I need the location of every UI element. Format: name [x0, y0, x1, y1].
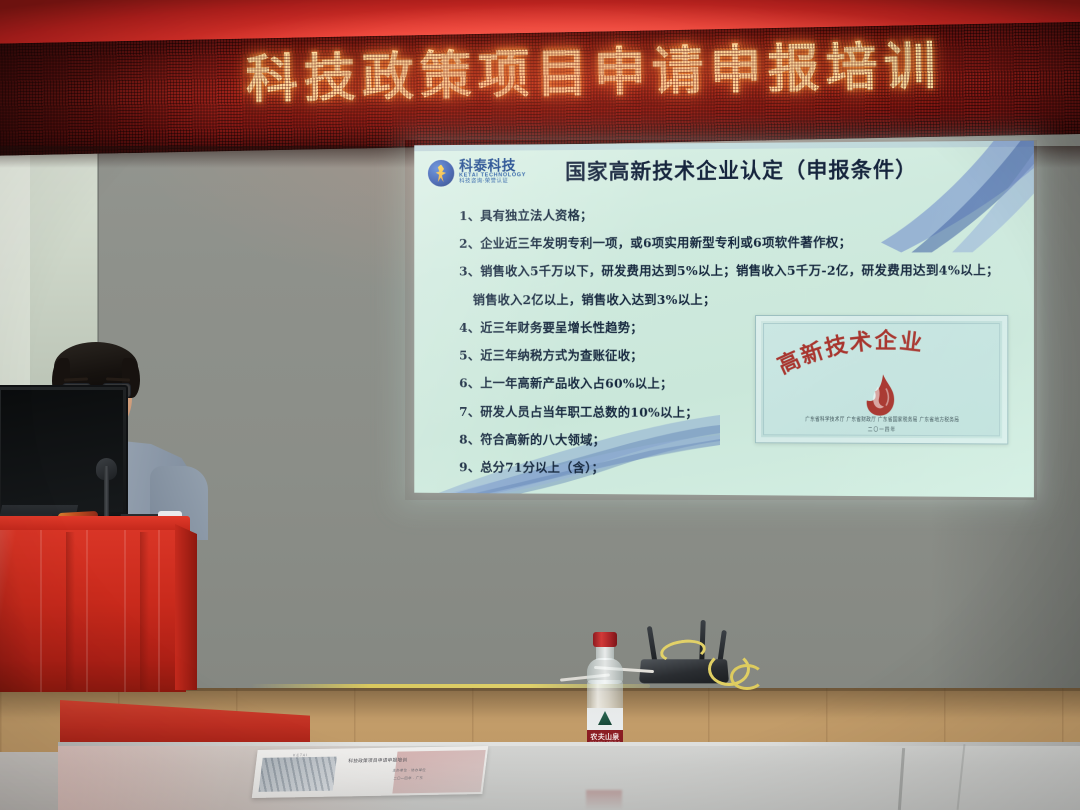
- certificate-plaque-photo: 高新技术企业 广东省科学技术厅 广东省财政厅 广东省国家税务局 广东省地方税务局…: [755, 315, 1008, 445]
- bottle-shoulder: [587, 658, 623, 684]
- led-left-falloff: [0, 39, 212, 156]
- table-cloth-fold-shadow-1: [66, 532, 75, 690]
- table-cloth-fold-3: [124, 530, 126, 692]
- microphone-stand: [104, 466, 109, 522]
- seminar-photo-scene: 科技政策项目申请申报培训 科泰科技 KETAI TECHNOLOGY 科技咨询·…: [0, 0, 1080, 810]
- table-cloth-fold-shadow-2: [140, 532, 149, 690]
- plaque-organizations: 广东省科学技术厅 广东省财政厅 广东省国家税务局 广东省地方税务局: [756, 415, 1008, 424]
- plaque-year: 二〇一四年: [756, 425, 1008, 434]
- slide-bullet-1: 1、具有独立法人资格；: [459, 204, 999, 226]
- table-cloth-fold-2: [86, 530, 88, 692]
- led-banner-board: 科技政策项目申请申报培训: [0, 21, 1080, 156]
- network-cable-loop-2: [730, 664, 764, 690]
- slide-bullet-3-cont: 销售收入2亿以上，销售收入达到3%以上；: [473, 289, 999, 309]
- bottle-cap: [593, 632, 617, 647]
- brochure-cover-image: [259, 757, 337, 792]
- brochure-document[interactable]: KETAI 科技政策项目申请申报培训 主办单位 · 协办单位 二〇一四年 · 广…: [252, 746, 488, 798]
- table-cloth-fold-1: [40, 530, 42, 692]
- projection-slide: 科泰科技 KETAI TECHNOLOGY 科技咨询·荣誉认证 国家高新技术企业…: [414, 141, 1034, 498]
- slide-title: 国家高新技术企业认定（申报条件）: [414, 153, 1034, 187]
- slide-bullet-2: 2、企业近三年发明专利一项，或6项实用新型专利或6项软件著作权；: [459, 232, 999, 253]
- led-banner-text: 科技政策项目申请申报培训: [245, 41, 942, 107]
- red-table-cloth-side: [175, 524, 197, 690]
- slide-bullet-9: 9、总分71分以上（含）；: [459, 457, 999, 480]
- brochure-corner-mark: KETAI: [292, 753, 333, 762]
- mountain-icon: [598, 711, 612, 725]
- slide-bullet-3: 3、销售收入5千万以下，研发费用达到5%以上；销售收入5千万-2亿，研发费用达到…: [459, 261, 999, 281]
- bottle-table-reflection: [586, 790, 622, 810]
- led-right-falloff: [990, 21, 1080, 135]
- bottle-neck: [596, 646, 614, 660]
- foreground-table-edge: [58, 742, 1080, 746]
- flame-icon: [858, 372, 905, 418]
- table-cloth-fold-4: [158, 530, 160, 692]
